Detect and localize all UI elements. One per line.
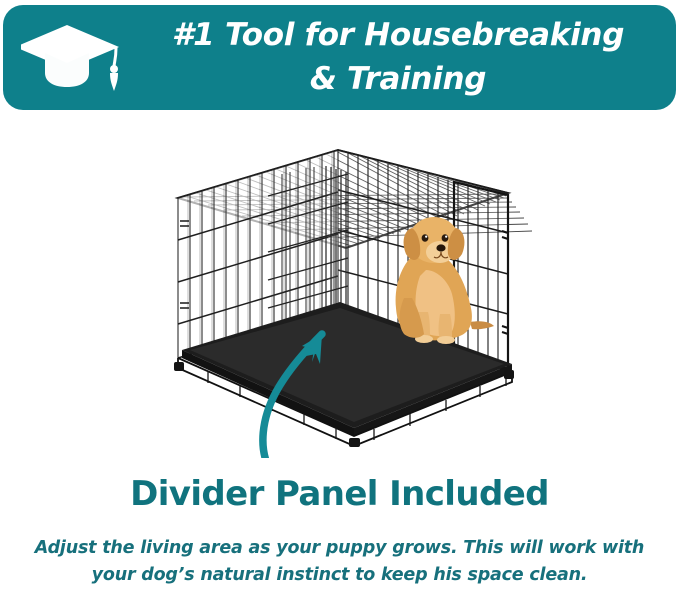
product-image [0, 118, 679, 458]
caption-body: Adjust the living area as your puppy gro… [30, 535, 649, 589]
caption-heading: Divider Panel Included [0, 474, 679, 514]
banner-headline-line-1: #1 Tool for Housebreaking [133, 13, 663, 57]
caption-body-line-2: your dog’s natural instinct to keep his … [30, 562, 649, 589]
graduation-cap-icon [21, 19, 129, 97]
promo-banner: #1 Tool for Housebreaking & Training [3, 5, 676, 110]
banner-headline-line-2: & Training [133, 57, 663, 101]
banner-headline: #1 Tool for Housebreaking & Training [133, 13, 663, 101]
caption-body-line-1: Adjust the living area as your puppy gro… [30, 535, 649, 562]
